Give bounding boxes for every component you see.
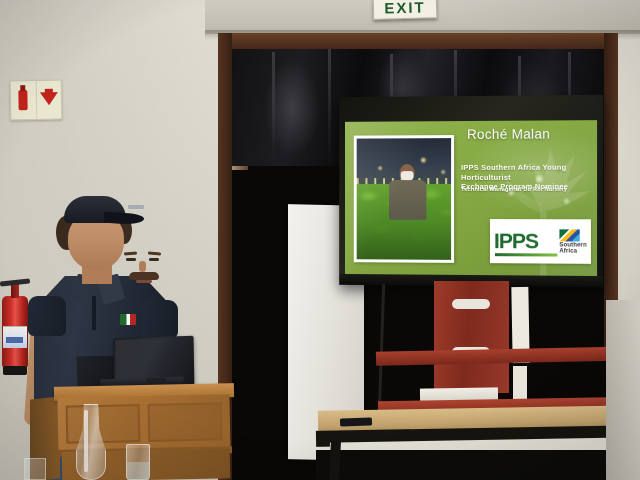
eye-right <box>149 258 159 261</box>
glass-water-level <box>127 462 149 480</box>
table-leg <box>329 440 341 480</box>
drinking-glass-left <box>24 458 46 480</box>
shirt-placket <box>92 296 96 330</box>
ipps-underline <box>495 253 557 256</box>
presentation-clicker[interactable] <box>146 378 166 385</box>
door-lintel <box>218 33 618 49</box>
ipps-logo: IPPS Southern Africa <box>490 219 591 264</box>
right-wall-edge <box>606 300 640 480</box>
down-arrow-icon <box>36 81 61 119</box>
slide-title: Roché Malan <box>467 126 596 142</box>
wall-mounted-tv: Roché Malan IPPS Southern Africa Young H… <box>339 95 603 287</box>
slide-portrait-photo <box>354 135 454 263</box>
presentation-slide: Roché Malan IPPS Southern Africa Young H… <box>345 120 597 276</box>
tv-screen: Roché Malan IPPS Southern Africa Young H… <box>345 120 597 276</box>
presenter-right-sleeve <box>142 300 178 338</box>
face-mask-icon <box>401 171 414 180</box>
eye-left <box>126 258 136 261</box>
mobile-phone <box>340 417 372 426</box>
carafe-highlight <box>84 410 88 472</box>
presenter-left-sleeve <box>28 296 66 336</box>
ipps-region-line2: Africa <box>559 248 577 254</box>
fire-safety-sign <box>10 80 63 121</box>
slide-role-text: Technical Manager at Du Roi Nursery <box>461 187 597 193</box>
ipps-wordmark: IPPS <box>494 231 538 252</box>
sa-flag-icon <box>559 229 579 241</box>
moustache <box>129 272 159 280</box>
table-base-shadow <box>316 450 640 480</box>
fire-extinguisher-icon <box>11 81 37 119</box>
shirt-chest-badge <box>120 314 136 325</box>
exit-sign-label: EXIT <box>384 0 426 17</box>
slide-subtitle-line1: IPPS Southern Africa Young Horticulturis… <box>461 163 597 182</box>
red-bench-backrest <box>434 281 509 393</box>
exit-sign: EXIT <box>373 0 438 20</box>
presentation-photo-scene: EXIT <box>0 0 640 480</box>
